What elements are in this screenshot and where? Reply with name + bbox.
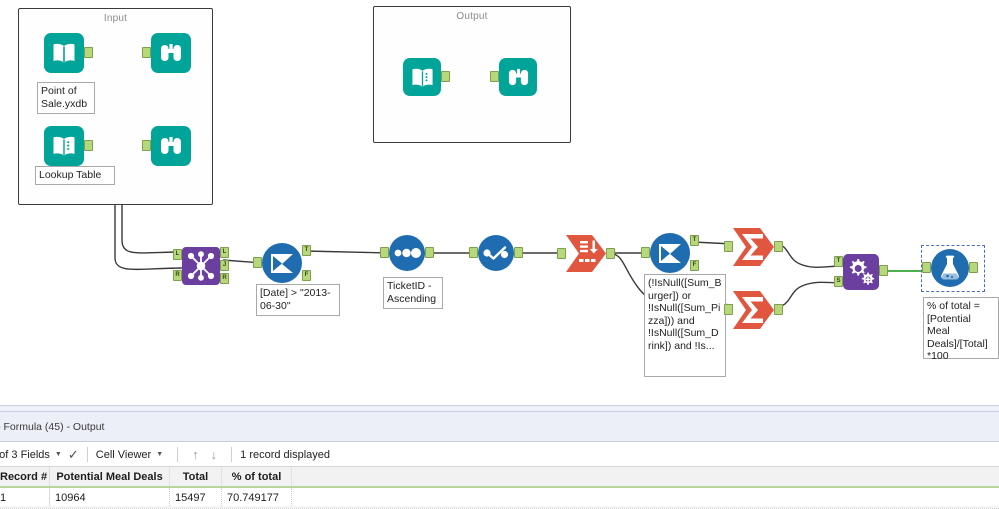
binoculars-icon-glyph (158, 41, 184, 65)
output-port-R[interactable] (220, 273, 229, 284)
chevron-down-icon[interactable]: ▼ (156, 451, 163, 458)
crosstab-icon-glyph (566, 235, 606, 272)
output-port-false[interactable] (690, 260, 699, 271)
input-container-label: Input (19, 13, 212, 24)
panel-splitter[interactable] (0, 405, 999, 412)
filter-funnel-icon-glyph (267, 250, 297, 276)
tool-filter-date[interactable]: T F (262, 243, 302, 283)
annotation-point-of-sale: Point of Sale.yxdb (37, 82, 95, 114)
tool-output-input-data[interactable] (403, 58, 441, 96)
flask-icon-glyph (937, 254, 963, 282)
tool-unique[interactable] (478, 235, 514, 271)
output-port-J[interactable] (220, 260, 229, 271)
output-port[interactable] (425, 247, 434, 258)
toolbar-divider (87, 447, 88, 462)
tool-browse-bottom[interactable] (151, 126, 191, 166)
column-header-percent-of-total[interactable]: % of total (222, 467, 292, 486)
output-container-label: Output (374, 11, 570, 22)
results-toolbar[interactable]: 3 of 3 Fields ▼ ✓ Cell Viewer ▼ ↑ ↓ 1 re… (0, 443, 999, 467)
output-port-true[interactable] (690, 235, 699, 246)
column-header-total[interactable]: Total (170, 467, 222, 486)
record-status: 1 record displayed (240, 443, 330, 467)
cell-percent-of-total[interactable]: 70.749177 (222, 488, 292, 508)
output-port[interactable] (84, 140, 93, 151)
annotation-sort: TicketID - Ascending (383, 277, 443, 309)
fields-selector[interactable]: 3 of 3 Fields ▼ ✓ (0, 443, 79, 467)
annotation-formula: % of total = [Potential Meal Deals]/[Tot… (923, 297, 999, 359)
cell-viewer-label: Cell Viewer (96, 449, 151, 461)
output-port[interactable] (441, 71, 450, 82)
cell-total[interactable]: 15497 (170, 488, 222, 508)
binoculars-icon (151, 126, 191, 166)
checkmark-icon[interactable]: ✓ (68, 447, 79, 463)
input-port-right[interactable] (173, 270, 182, 281)
input-port[interactable] (490, 71, 499, 82)
sigma-icon-glyph (733, 291, 774, 329)
cell-record-number[interactable]: 1 (0, 488, 50, 508)
flask-icon (931, 249, 969, 287)
tool-browse-top[interactable] (151, 33, 191, 73)
output-port-true[interactable] (302, 245, 311, 256)
toolbar-divider (231, 447, 232, 462)
chevron-down-icon[interactable]: ▼ (55, 451, 62, 458)
input-port[interactable] (641, 247, 650, 258)
input-port[interactable] (142, 47, 151, 58)
join-nodes-icon (182, 247, 220, 285)
column-header-record-number[interactable]: Record # (0, 467, 50, 486)
results-panel: ts - Formula (45) - Output 3 of 3 Fields… (0, 405, 999, 508)
alteryx-designer-window: Input Output Point of Sale.yxdb (0, 0, 999, 508)
cell-viewer-selector[interactable]: Cell Viewer ▼ (96, 443, 169, 467)
check-dots-icon (478, 235, 514, 271)
output-port[interactable] (774, 304, 783, 315)
column-header-potential-meal-deals[interactable]: Potential Meal Deals (50, 467, 170, 486)
binoculars-icon (499, 58, 537, 96)
tool-input-data-lookup-table[interactable] (44, 126, 84, 166)
results-table[interactable]: Record # Potential Meal Deals Total % of… (0, 467, 999, 509)
book-icon (44, 33, 84, 73)
results-tab-bar[interactable]: ts - Formula (45) - Output (0, 412, 999, 442)
book-dots-icon (403, 58, 441, 96)
book-dots-icon-glyph (51, 134, 77, 158)
fields-label: 3 of 3 Fields (0, 449, 50, 461)
arrow-down-icon[interactable]: ↓ (211, 447, 218, 462)
tool-formula[interactable] (931, 249, 969, 287)
check-dots-icon-glyph (482, 244, 510, 262)
output-port-L[interactable] (220, 247, 229, 258)
tool-join[interactable]: L R L J R (182, 247, 220, 285)
sort-dots-icon (389, 235, 425, 271)
table-header-row: Record # Potential Meal Deals Total % of… (0, 467, 999, 488)
arrow-up-icon[interactable]: ↑ (192, 447, 199, 462)
filter-funnel-icon (262, 243, 302, 283)
output-port[interactable] (969, 262, 978, 273)
workflow-canvas[interactable]: Input Output Point of Sale.yxdb (0, 0, 999, 405)
record-status-label: 1 record displayed (240, 449, 330, 461)
cell-potential-meal-deals[interactable]: 10964 (50, 488, 170, 508)
tool-sort[interactable] (389, 235, 425, 271)
output-port[interactable] (606, 248, 615, 259)
sort-dots-icon-glyph (393, 245, 421, 261)
filter-funnel-icon-glyph (655, 240, 685, 266)
filter-funnel-icon (650, 233, 690, 273)
input-port[interactable] (142, 140, 151, 151)
book-icon-glyph (51, 41, 77, 65)
input-port-target[interactable] (834, 256, 843, 267)
sigma-icon-glyph (733, 228, 774, 266)
join-nodes-icon-glyph (184, 249, 218, 283)
output-port[interactable] (879, 265, 888, 276)
output-port[interactable] (774, 241, 783, 252)
results-tab-label[interactable]: ts - Formula (45) - Output (0, 421, 104, 433)
gears-icon (843, 254, 879, 290)
output-port[interactable] (84, 47, 93, 58)
annotation-filter-isnull: (!IsNull([Sum_Burger]) or !IsNull([Sum_P… (644, 274, 726, 377)
annotation-lookup-table: Lookup Table (35, 166, 115, 185)
output-port-false[interactable] (302, 270, 311, 281)
tool-input-data-point-of-sale[interactable] (44, 33, 84, 73)
output-port[interactable] (514, 247, 523, 258)
toolbar-divider (177, 447, 178, 462)
annotation-filter-date: [Date] > "2013-06-30" (256, 284, 340, 316)
tool-output-browse[interactable] (499, 58, 537, 96)
binoculars-icon-glyph (158, 134, 184, 158)
input-port-left[interactable] (173, 249, 182, 260)
input-port[interactable] (380, 247, 389, 258)
input-port[interactable] (557, 248, 566, 259)
tool-filter-isnull[interactable]: T F (650, 233, 690, 273)
input-port[interactable] (253, 257, 262, 268)
tool-append-fields[interactable]: T S (843, 254, 879, 290)
input-port[interactable] (724, 241, 733, 252)
book-dots-icon-glyph (410, 66, 435, 89)
input-port[interactable] (922, 262, 931, 273)
gears-icon-glyph (845, 257, 877, 287)
input-port-source[interactable] (834, 276, 843, 287)
input-port[interactable] (724, 304, 733, 315)
book-dots-icon (44, 126, 84, 166)
binoculars-icon (151, 33, 191, 73)
binoculars-icon-glyph (506, 66, 531, 89)
input-port[interactable] (469, 247, 478, 258)
